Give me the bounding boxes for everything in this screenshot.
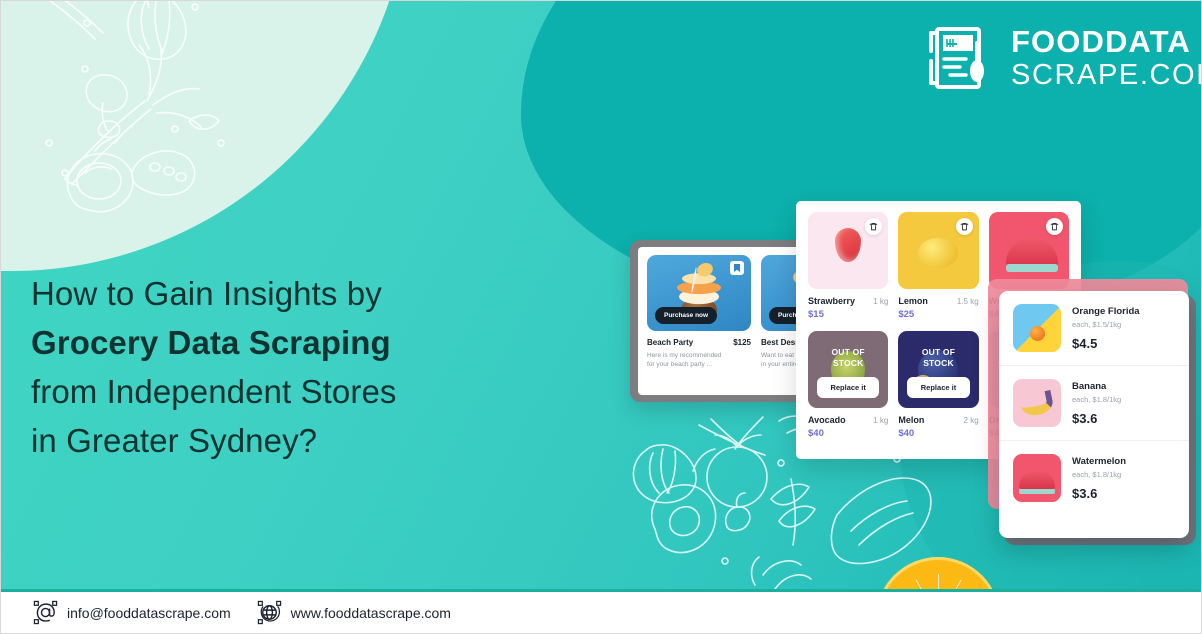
email-contact[interactable]: info@fooddatascrape.com	[33, 600, 231, 625]
logo-text-primary: FOODDATA	[1011, 26, 1202, 57]
headline-line-2: Grocery Data Scraping	[31, 318, 591, 367]
list-item-price: $3.6	[1072, 486, 1175, 501]
promo-card-title: Beach Party	[647, 338, 693, 347]
watermelon-illustration	[1006, 238, 1058, 266]
product-tile[interactable]: Lemon 1.5 kg $25	[898, 212, 978, 320]
product-quantity: 1 kg	[873, 416, 888, 425]
device-screen: Purchase now Beach Party $125 Here is my…	[638, 247, 818, 395]
at-sign-icon	[33, 600, 58, 625]
product-list-panel: Orange Florida each, $1.5/1kg $4.5 Banan…	[999, 291, 1189, 538]
product-price: $25	[898, 309, 978, 320]
website-url: www.fooddatascrape.com	[291, 605, 451, 621]
product-quantity: 2 kg	[964, 416, 979, 425]
trash-icon[interactable]	[865, 218, 882, 235]
purchase-now-button[interactable]: Purchase now	[655, 307, 717, 324]
brand-logo: FOODDATA SCRAPE.COM	[923, 21, 1202, 95]
product-name: Lemon	[898, 296, 928, 306]
list-item[interactable]: Orange Florida each, $1.5/1kg $4.5	[999, 291, 1189, 366]
promo-card-image: Purchase now	[647, 255, 751, 331]
strawberry-illustration	[835, 228, 861, 262]
product-image	[898, 212, 978, 289]
logo-text-secondary: SCRAPE.COM	[1011, 61, 1202, 90]
list-item-price: $3.6	[1072, 411, 1175, 426]
list-item-price: $4.5	[1072, 336, 1175, 351]
trash-icon[interactable]	[956, 218, 973, 235]
email-address: info@fooddatascrape.com	[67, 605, 231, 621]
product-price: $15	[808, 309, 888, 320]
product-tile-out-of-stock[interactable]: OUT OFSTOCK Replace it Melon 2 kg $40	[898, 331, 978, 439]
list-item[interactable]: Banana each, $1.8/1kg $3.6	[999, 366, 1189, 441]
list-item-name: Watermelon	[1072, 456, 1175, 467]
replace-it-button[interactable]: Replace it	[817, 377, 879, 398]
contact-footer: info@fooddatascrape.com www.fooddatascra…	[1, 589, 1202, 633]
watermelon-thumbnail	[1013, 454, 1061, 502]
list-item-unit: each, $1.8/1kg	[1072, 470, 1175, 479]
list-item-unit: each, $1.5/1kg	[1072, 320, 1175, 329]
globe-icon	[257, 600, 282, 625]
list-item-name: Orange Florida	[1072, 306, 1175, 317]
product-price: $40	[898, 428, 978, 439]
list-item-name: Banana	[1072, 381, 1175, 392]
orange-thumbnail	[1013, 304, 1061, 352]
product-image: OUT OFSTOCK Replace it	[808, 331, 888, 408]
headline-line-1: How to Gain Insights by	[31, 269, 591, 318]
product-price: $40	[808, 428, 888, 439]
product-image	[989, 212, 1069, 289]
lemon-illustration	[918, 238, 958, 268]
headline-line-3: from Independent Stores	[31, 367, 591, 416]
replace-it-button[interactable]: Replace it	[907, 377, 969, 398]
trash-icon[interactable]	[1046, 218, 1063, 235]
website-contact[interactable]: www.fooddatascrape.com	[257, 600, 451, 625]
promotional-banner: FOODDATA SCRAPE.COM How to Gain Insights…	[0, 0, 1202, 634]
product-image: OUT OFSTOCK Replace it	[898, 331, 978, 408]
product-name: Strawberry	[808, 296, 855, 306]
product-tile-out-of-stock[interactable]: OUT OFSTOCK Replace it Avocado 1 kg $40	[808, 331, 888, 439]
product-quantity: 1.5 kg	[957, 297, 979, 306]
product-image	[808, 212, 888, 289]
banana-thumbnail	[1013, 379, 1061, 427]
page-title: How to Gain Insights by Grocery Data Scr…	[31, 269, 591, 465]
promo-card[interactable]: Purchase now Beach Party $125 Here is my…	[647, 255, 751, 395]
product-name: Melon	[898, 415, 924, 425]
out-of-stock-badge: OUT OFSTOCK	[808, 347, 888, 369]
product-tile[interactable]: Strawberry 1 kg $15	[808, 212, 888, 320]
clipboard-fork-spoon-icon	[923, 21, 997, 95]
promo-card-price: $125	[733, 338, 751, 347]
bookmark-icon[interactable]	[730, 261, 744, 275]
list-item-unit: each, $1.8/1kg	[1072, 395, 1175, 404]
headline-line-4: in Greater Sydney?	[31, 416, 591, 465]
promo-card-description: Here is my recommended for your beach pa…	[647, 351, 751, 369]
list-item[interactable]: Watermelon each, $1.8/1kg $3.6	[999, 441, 1189, 515]
product-name: Avocado	[808, 415, 846, 425]
product-quantity: 1 kg	[873, 297, 888, 306]
out-of-stock-badge: OUT OFSTOCK	[898, 347, 978, 369]
